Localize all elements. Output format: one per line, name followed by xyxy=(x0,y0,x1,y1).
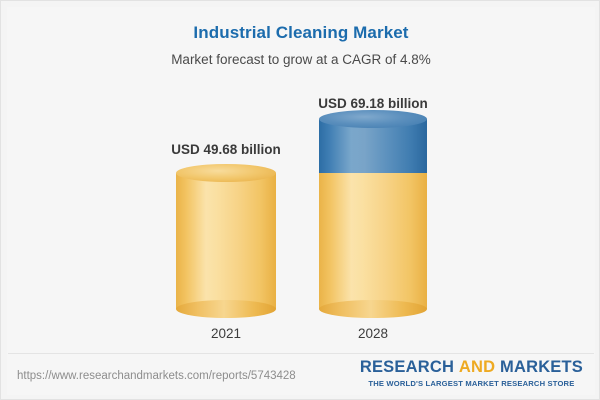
chart-card: Industrial Cleaning Market Market foreca… xyxy=(0,0,600,400)
logo-word-markets: MARKETS xyxy=(500,358,583,376)
logo-wordmark: RESEARCH AND MARKETS xyxy=(360,359,583,376)
logo-word-research: RESEARCH xyxy=(360,358,454,376)
cylinder-bottom-cap xyxy=(319,300,427,318)
bar-segment-base-2028 xyxy=(319,173,427,309)
segment-body xyxy=(176,173,276,309)
chart-plot-area: USD 49.68 billion 2021 USD 69.18 billion xyxy=(1,1,600,353)
data-label-2021: USD 49.68 billion xyxy=(116,142,336,157)
footer-divider xyxy=(8,353,594,354)
brand-logo: RESEARCH AND MARKETS THE WORLD'S LARGEST… xyxy=(360,359,583,388)
report-url[interactable]: https://www.researchandmarkets.com/repor… xyxy=(17,370,296,382)
logo-word-and: AND xyxy=(459,358,495,376)
category-label-2021: 2021 xyxy=(176,326,276,341)
cylinder-top-cap xyxy=(176,164,276,182)
category-label-2028: 2028 xyxy=(319,326,427,341)
cylinder-bottom-cap xyxy=(176,300,276,318)
bar-segment-base-2021 xyxy=(176,173,276,309)
cylinder-2028 xyxy=(319,119,427,309)
bar-segment-growth-2028 xyxy=(319,119,427,173)
cylinder-2021 xyxy=(176,173,276,309)
segment-body xyxy=(319,173,427,309)
cylinder-top-cap xyxy=(319,110,427,128)
logo-tagline: THE WORLD'S LARGEST MARKET RESEARCH STOR… xyxy=(360,379,583,388)
data-label-2028: USD 69.18 billion xyxy=(263,96,483,111)
